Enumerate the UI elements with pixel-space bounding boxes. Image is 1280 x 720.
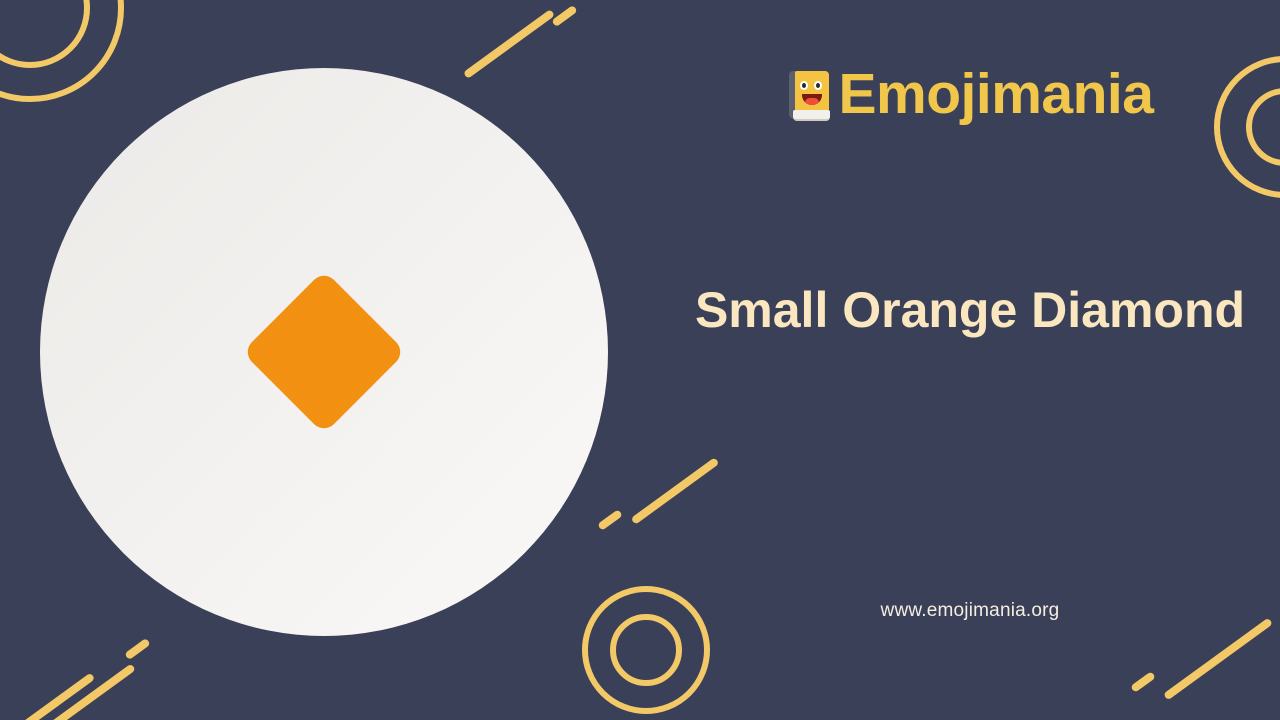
emoji-title: Small Orange Diamond: [680, 278, 1260, 342]
dash-bottom-left-lower: [13, 673, 95, 720]
emoji-artwork-circle: [40, 68, 608, 636]
dash-middle-short: [597, 509, 623, 531]
brand-logo[interactable]: Emojimania: [660, 66, 1280, 123]
small-orange-diamond-icon: [242, 270, 406, 434]
content-column: Emojimania Small Orange Diamond www.emoj…: [660, 0, 1280, 720]
dash-bottom-left-short: [124, 638, 151, 660]
dash-top-short: [551, 5, 578, 27]
dash-top-long: [463, 9, 555, 79]
brand-name-label: Emojimania: [839, 66, 1154, 123]
notebook-with-decorative-cover-icon: [787, 69, 833, 121]
site-url-label[interactable]: www.emojimania.org: [680, 600, 1260, 622]
emoji-card: Emojimania Small Orange Diamond www.emoj…: [0, 0, 1280, 720]
dash-bottom-left-long: [42, 663, 136, 720]
